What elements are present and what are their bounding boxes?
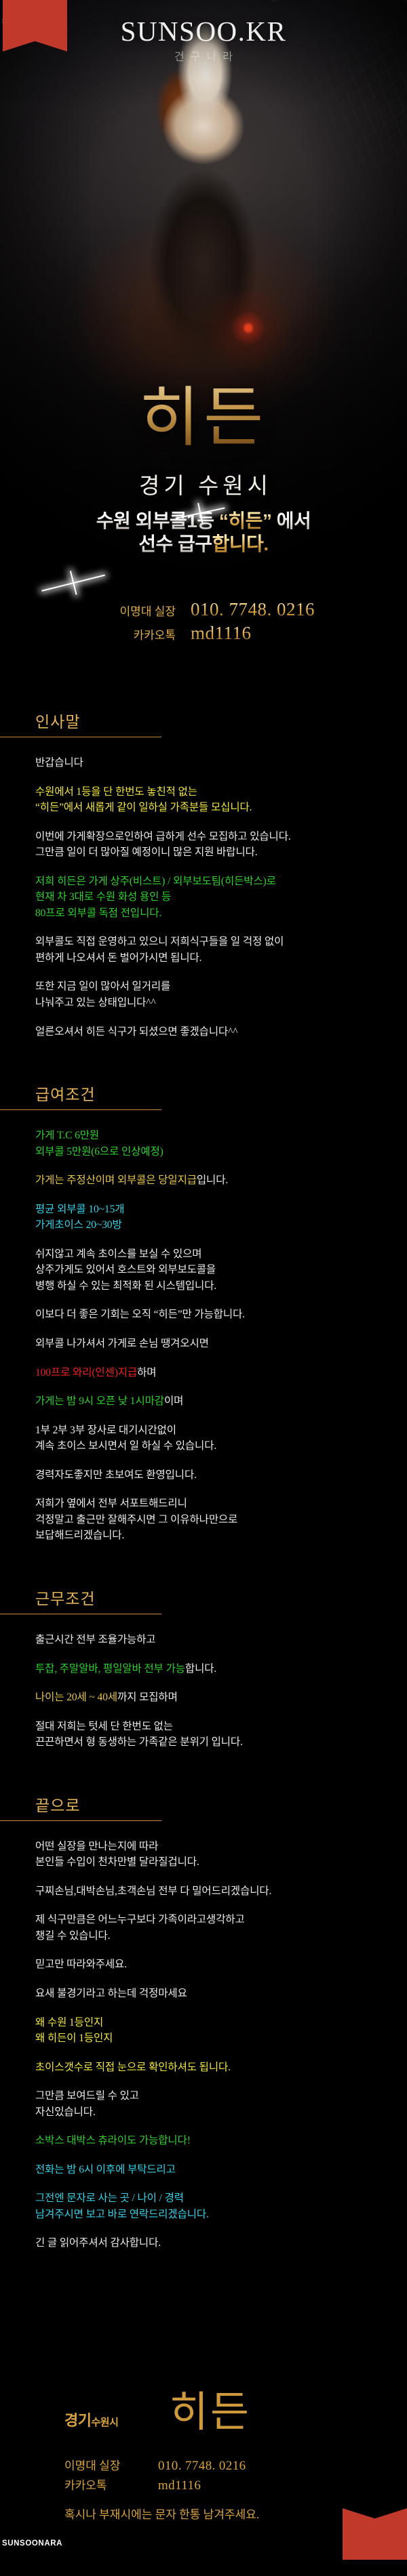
paragraph: 전화는 밤 6시 이후에 부탁드리고 — [35, 2162, 372, 2178]
footer-brand-name: 히든 — [170, 2377, 251, 2438]
paragraph: 경력자도좋지만 초보여도 환영입니다. — [35, 1467, 372, 1484]
paragraph-text: 그전엔 문자로 사는 곳 / 나이 / 경력 — [35, 2192, 184, 2204]
paragraph-text: 까지 모집하며 — [117, 1692, 178, 1703]
paragraph-text: 저희가 옆에서 전부 서포트해드리니 — [35, 1498, 187, 1509]
sunsoonara-footer-ribbon — [343, 2508, 407, 2560]
paragraph-text: 제 식구만큼은 어느누구보다 가족이라고생각하고 — [35, 1914, 245, 1925]
site-logo-subtitle: 건구나라 — [0, 47, 407, 64]
paragraph-text: 입니다. — [197, 1174, 228, 1186]
paragraph: 긴 글 읽어주셔서 감사합니다. — [35, 2235, 372, 2251]
footer-badge-city: 수원시 — [91, 2417, 118, 2428]
paragraph: 이번에 가게확장으로인하여 급하게 선수 모집하고 있습니다.그만큼 일이 더 … — [35, 829, 372, 861]
paragraph: 외부콜도 직접 운영하고 있으니 저희식구들을 일 걱정 없이편하게 나오셔서 … — [35, 934, 372, 966]
paragraph-text: 반갑습니다 — [35, 757, 83, 769]
paragraph-text: 챙길 수 있습니다. — [35, 1930, 110, 1942]
section-heading: 인사말 — [0, 709, 161, 737]
hero-headline-line-2: 선수 급구합니다. — [0, 533, 407, 556]
paragraph-text: 저희 히든은 가게 상주(비스트) / 외부보도팀(히든박스)로 — [35, 876, 276, 887]
paragraph-text: 어떤 실장을 만나는지에 따라 — [35, 1841, 158, 1852]
paragraph-text: 긴 글 읽어주셔서 감사합니다. — [35, 2237, 161, 2249]
paragraph: 또한 지금 일이 많아서 일거리를나눠주고 있는 상태입니다^^ — [35, 979, 372, 1010]
paragraph: 소박스 대박스 츄라이도 가능합니다! — [35, 2133, 372, 2149]
paragraph: 요새 불경기라고 하는데 걱정마세요 — [35, 1986, 372, 2002]
paragraph-text: 소박스 대박스 츄라이도 가능합니다! — [35, 2135, 191, 2146]
headline-part-e: 합니다. — [212, 533, 269, 554]
paragraph: 절대 저희는 텃세 단 한번도 없는끈끈하면서 형 동생하는 가족같은 분위기 … — [35, 1719, 372, 1751]
footer-badge-region: 경기 — [64, 2412, 91, 2429]
paragraph: 출근시간 전부 조율가능하고 — [35, 1632, 372, 1648]
paragraph-text: 얼른오셔서 히든 식구가 되셨으면 좋겠습니다^^ — [35, 1026, 238, 1038]
footer-contact-block: 이명대 실장 010. 7748. 0216 카카오톡 md1116 — [64, 2456, 246, 2495]
content-body: 인사말반갑습니다수원에서 1등을 단 한번도 놓친적 없는“히든”에서 새롭게 … — [0, 678, 407, 2335]
footer-location-badge: 경기수원시 — [64, 2409, 118, 2430]
paragraph-text: 걱정말고 출근만 잘해주시면 그 이유하나만으로 — [35, 1514, 237, 1526]
sections-root: 인사말반갑습니다수원에서 1등을 단 한번도 놓친적 없는“히든”에서 새롭게 … — [0, 709, 407, 2293]
section: 근무조건출근시간 전부 조율가능하고투잡, 주말알바, 평일알바 전부 가능합니… — [0, 1586, 407, 1751]
hero-contact-row: 카카오톡 md1116 — [0, 623, 407, 644]
paragraph-text: 1부 2부 3부 장사로 대기시간없이 — [35, 1425, 176, 1436]
paragraph-text: 남겨주시면 보고 바로 연락드리겠습니다. — [35, 2209, 209, 2220]
section: 끝으로어떤 실장을 만나는지에 따라본인들 수입이 천차만별 달라질겁니다.구찌… — [0, 1793, 407, 2251]
hero-contact-row: 이명대 실장 010. 7748. 0216 — [0, 599, 407, 620]
paragraph-text: 구찌손님,대박손님,초객손님 전부 다 밀어드리겠습니다. — [35, 1885, 271, 1897]
paragraph-text: 하며 — [137, 1367, 156, 1378]
highlighted-text: 가게는 밤 9시 오픈 낮 1시마감 — [35, 1395, 164, 1407]
paragraph: 100프로 와리(인센)지급하며 — [35, 1365, 372, 1381]
paragraph-text: 요새 불경기라고 하는데 걱정마세요 — [35, 1988, 187, 1999]
hero-banner: SUNSOONARA SUNSOO.KR 건구나라 히든 경기 수원시 수원 외… — [0, 0, 407, 678]
paragraph-text: 합니다. — [185, 1663, 216, 1675]
paragraph: 가게는 밤 9시 오픈 낮 1시마감이며 — [35, 1393, 372, 1410]
paragraph: 믿고만 따라와주세요. — [35, 1957, 372, 1973]
section-gap — [0, 1040, 407, 1082]
footer-manager-label: 이명대 실장 — [64, 2456, 158, 2473]
paragraph-text: 이며 — [164, 1395, 183, 1407]
hero-headline-line-1: 수원 외부콜1등 “히든” 에서 — [0, 510, 407, 533]
paragraph-text: 80프로 외부콜 독점 전입니다. — [35, 907, 161, 919]
headline-part-c: 에서 — [271, 510, 311, 531]
paragraph: 반갑습니다 — [35, 755, 372, 771]
paragraph-text: 편하게 나오셔서 돈 벌어가시면 됩니다. — [35, 952, 201, 964]
footer-kakao-label: 카카오톡 — [64, 2476, 158, 2493]
section-gap — [0, 1544, 407, 1586]
hero-phone-number[interactable]: 010. 7748. 0216 — [191, 599, 347, 620]
paragraph-text: 출근시간 전부 조율가능하고 — [35, 1634, 155, 1645]
hero-contact-block: 이명대 실장 010. 7748. 0216 카카오톡 md1116 — [0, 599, 407, 647]
paragraph-text: 외부콜 5만원(6으로 인상예정) — [35, 1146, 163, 1158]
paragraph-text: 전화는 밤 6시 이후에 부탁드리고 — [35, 2164, 176, 2175]
highlighted-text: 투잡, 주말알바, 평일알바 전부 가능 — [35, 1663, 185, 1675]
hero-location-subtitle: 경기 수원시 — [0, 468, 407, 500]
section-heading: 급여조건 — [0, 1082, 161, 1110]
paragraph: 제 식구만큼은 어느누구보다 가족이라고생각하고챙길 수 있습니다. — [35, 1912, 372, 1944]
hero-contact-label: 이명대 실장 — [60, 602, 191, 619]
headline-part-b: “히든” — [219, 510, 272, 531]
highlighted-text: 나이는 20세 ~ 40세 — [35, 1692, 117, 1703]
paragraph: 저희 히든은 가게 상주(비스트) / 외부보도팀(히든박스)로현재 차 3대로… — [35, 874, 372, 922]
section: 인사말반갑습니다수원에서 1등을 단 한번도 놓친적 없는“히든”에서 새롭게 … — [0, 709, 407, 1040]
paragraph-text: 상주가게도 있어서 호스트와 외부보도콜을 — [35, 1264, 216, 1275]
paragraph-text: 나눠주고 있는 상태입니다^^ — [35, 997, 156, 1008]
footer-phone-number[interactable]: 010. 7748. 0216 — [158, 2459, 246, 2474]
paragraph-text: 가게초이스 20~30방 — [35, 1219, 122, 1231]
highlighted-text: 가게는 주정산이며 외부콜은 당일지급 — [35, 1174, 197, 1186]
paragraph-text: 경력자도좋지만 초보여도 환영입니다. — [35, 1469, 197, 1481]
footer-note: 혹시나 부재시에는 문자 한통 남겨주세요. — [64, 2505, 259, 2522]
footer-contact-row: 이명대 실장 010. 7748. 0216 — [64, 2456, 246, 2474]
paragraph-text: 믿고만 따라와주세요. — [35, 1959, 127, 1970]
paragraph-text: 왜 히든이 1등인지 — [35, 2032, 113, 2044]
hero-kakao-id[interactable]: md1116 — [191, 623, 347, 644]
paragraph-text: 평균 외부콜 10~15개 — [35, 1204, 124, 1215]
paragraph: 그전엔 문자로 사는 곳 / 나이 / 경력남겨주시면 보고 바로 연락드리겠습… — [35, 2190, 372, 2222]
section-heading: 끝으로 — [0, 1793, 161, 1821]
headline-part-d: 선수 급구 — [138, 533, 212, 554]
footer-kakao-id[interactable]: md1116 — [158, 2478, 201, 2493]
paragraph: 구찌손님,대박손님,초객손님 전부 다 밀어드리겠습니다. — [35, 1883, 372, 1900]
paragraph-text: 외부콜 나가셔서 가게로 손님 땡겨오시면 — [35, 1338, 209, 1349]
paragraph: 평균 외부콜 10~15개가게초이스 20~30방 — [35, 1202, 372, 1233]
paragraph-text: 이보다 더 좋은 기회는 오직 “히든”만 가능합니다. — [35, 1309, 245, 1320]
paragraph-text: 그만큼 일이 더 많아질 예정이니 많은 지원 바랍니다. — [35, 846, 258, 858]
section-gap — [0, 2251, 407, 2293]
paragraph-text: “히든”에서 새롭게 같이 일하실 가족분들 모십니다. — [35, 802, 252, 813]
paragraph-text: 본인들 수입이 천차만별 달라질겁니다. — [35, 1856, 199, 1868]
section-gap — [0, 1751, 407, 1793]
paragraph: 얼른오셔서 히든 식구가 되셨으면 좋겠습니다^^ — [35, 1024, 372, 1040]
paragraph: 가게 T.C 6만원외부콜 5만원(6으로 인상예정) — [35, 1128, 372, 1160]
highlighted-text: 100프로 와리(인센)지급 — [35, 1367, 137, 1378]
paragraph-text: 쉬지않고 계속 초이스를 보실 수 있으며 — [35, 1248, 201, 1260]
paragraph: 외부콜 나가셔서 가게로 손님 땡겨오시면 — [35, 1336, 372, 1352]
paragraph-text: 수원에서 1등을 단 한번도 놓친적 없는 — [35, 786, 197, 798]
section: 급여조건가게 T.C 6만원외부콜 5만원(6으로 인상예정)가게는 주정산이며… — [0, 1082, 407, 1544]
paragraph-text: 그만큼 보여드릴 수 있고 — [35, 2090, 139, 2102]
hero-vignette — [0, 0, 407, 678]
paragraph-text: 자신있습니다. — [35, 2106, 96, 2118]
paragraph-text: 절대 저희는 텃세 단 한번도 없는 — [35, 1721, 173, 1732]
paragraph-text: 외부콜도 직접 운영하고 있으니 저희식구들을 일 걱정 없이 — [35, 936, 284, 947]
paragraph: 1부 2부 3부 장사로 대기시간없이계속 초이스 보시면서 일 하실 수 있습… — [35, 1423, 372, 1454]
paragraph-text: 끈끈하면서 형 동생하는 가족같은 분위기 입니다. — [35, 1736, 243, 1748]
paragraph-text: 병행 하실 수 있는 최적화 된 시스템입니다. — [35, 1280, 216, 1292]
paragraph-text: 이번에 가게확장으로인하여 급하게 선수 모집하고 있습니다. — [35, 831, 291, 842]
paragraph: 나이는 20세 ~ 40세까지 모집하며 — [35, 1690, 372, 1706]
paragraph-text: 가게 T.C 6만원 — [35, 1130, 99, 1141]
section-heading: 근무조건 — [0, 1586, 161, 1614]
paragraph: 가게는 주정산이며 외부콜은 당일지급입니다. — [35, 1172, 372, 1189]
paragraph-text: 현재 차 3대로 수원 화성 용인 등 — [35, 891, 171, 903]
paragraph-text: 또한 지금 일이 많아서 일거리를 — [35, 981, 170, 992]
paragraph: 왜 수원 1등인지왜 히든이 1등인지 — [35, 2015, 372, 2047]
paragraph: 투잡, 주말알바, 평일알바 전부 가능합니다. — [35, 1661, 372, 1677]
paragraph-text: 초이스갯수로 직접 눈으로 확인하셔도 됩니다. — [35, 2062, 231, 2073]
paragraph-text: 계속 초이스 보시면서 일 하실 수 있습니다. — [35, 1440, 216, 1452]
paragraph-text: 보답해드리겠습니다. — [35, 1530, 124, 1541]
paragraph: 그만큼 보여드릴 수 있고자신있습니다. — [35, 2088, 372, 2120]
sunsoonara-footer-ribbon-label: SUNSOONARA — [0, 2539, 64, 2548]
paragraph: 이보다 더 좋은 기회는 오직 “히든”만 가능합니다. — [35, 1307, 372, 1323]
headline-part-a: 수원 외부콜1등 — [96, 510, 219, 531]
footer-contact-row: 카카오톡 md1116 — [64, 2476, 246, 2493]
paragraph: 쉬지않고 계속 초이스를 보실 수 있으며상주가게도 있어서 호스트와 외부보도… — [35, 1246, 372, 1294]
hero-title: 히든 — [0, 365, 407, 459]
paragraph: 어떤 실장을 만나는지에 따라본인들 수입이 천차만별 달라질겁니다. — [35, 1839, 372, 1870]
paragraph: 저희가 옆에서 전부 서포트해드리니걱정말고 출근만 잘해주시면 그 이유하나만… — [35, 1496, 372, 1544]
hero-headline: 수원 외부콜1등 “히든” 에서 선수 급구합니다. — [0, 510, 407, 556]
hero-kakao-label: 카카오톡 — [60, 626, 191, 642]
paragraph: 초이스갯수로 직접 눈으로 확인하셔도 됩니다. — [35, 2060, 372, 2076]
footer: 경기수원시 히든 이명대 실장 010. 7748. 0216 카카오톡 md1… — [0, 2335, 407, 2560]
paragraph-text: 왜 수원 1등인지 — [35, 2017, 103, 2028]
advertisement-page: SUNSOONARA SUNSOO.KR 건구나라 히든 경기 수원시 수원 외… — [0, 0, 407, 2576]
paragraph: 수원에서 1등을 단 한번도 놓친적 없는“히든”에서 새롭게 같이 일하실 가… — [35, 784, 372, 816]
